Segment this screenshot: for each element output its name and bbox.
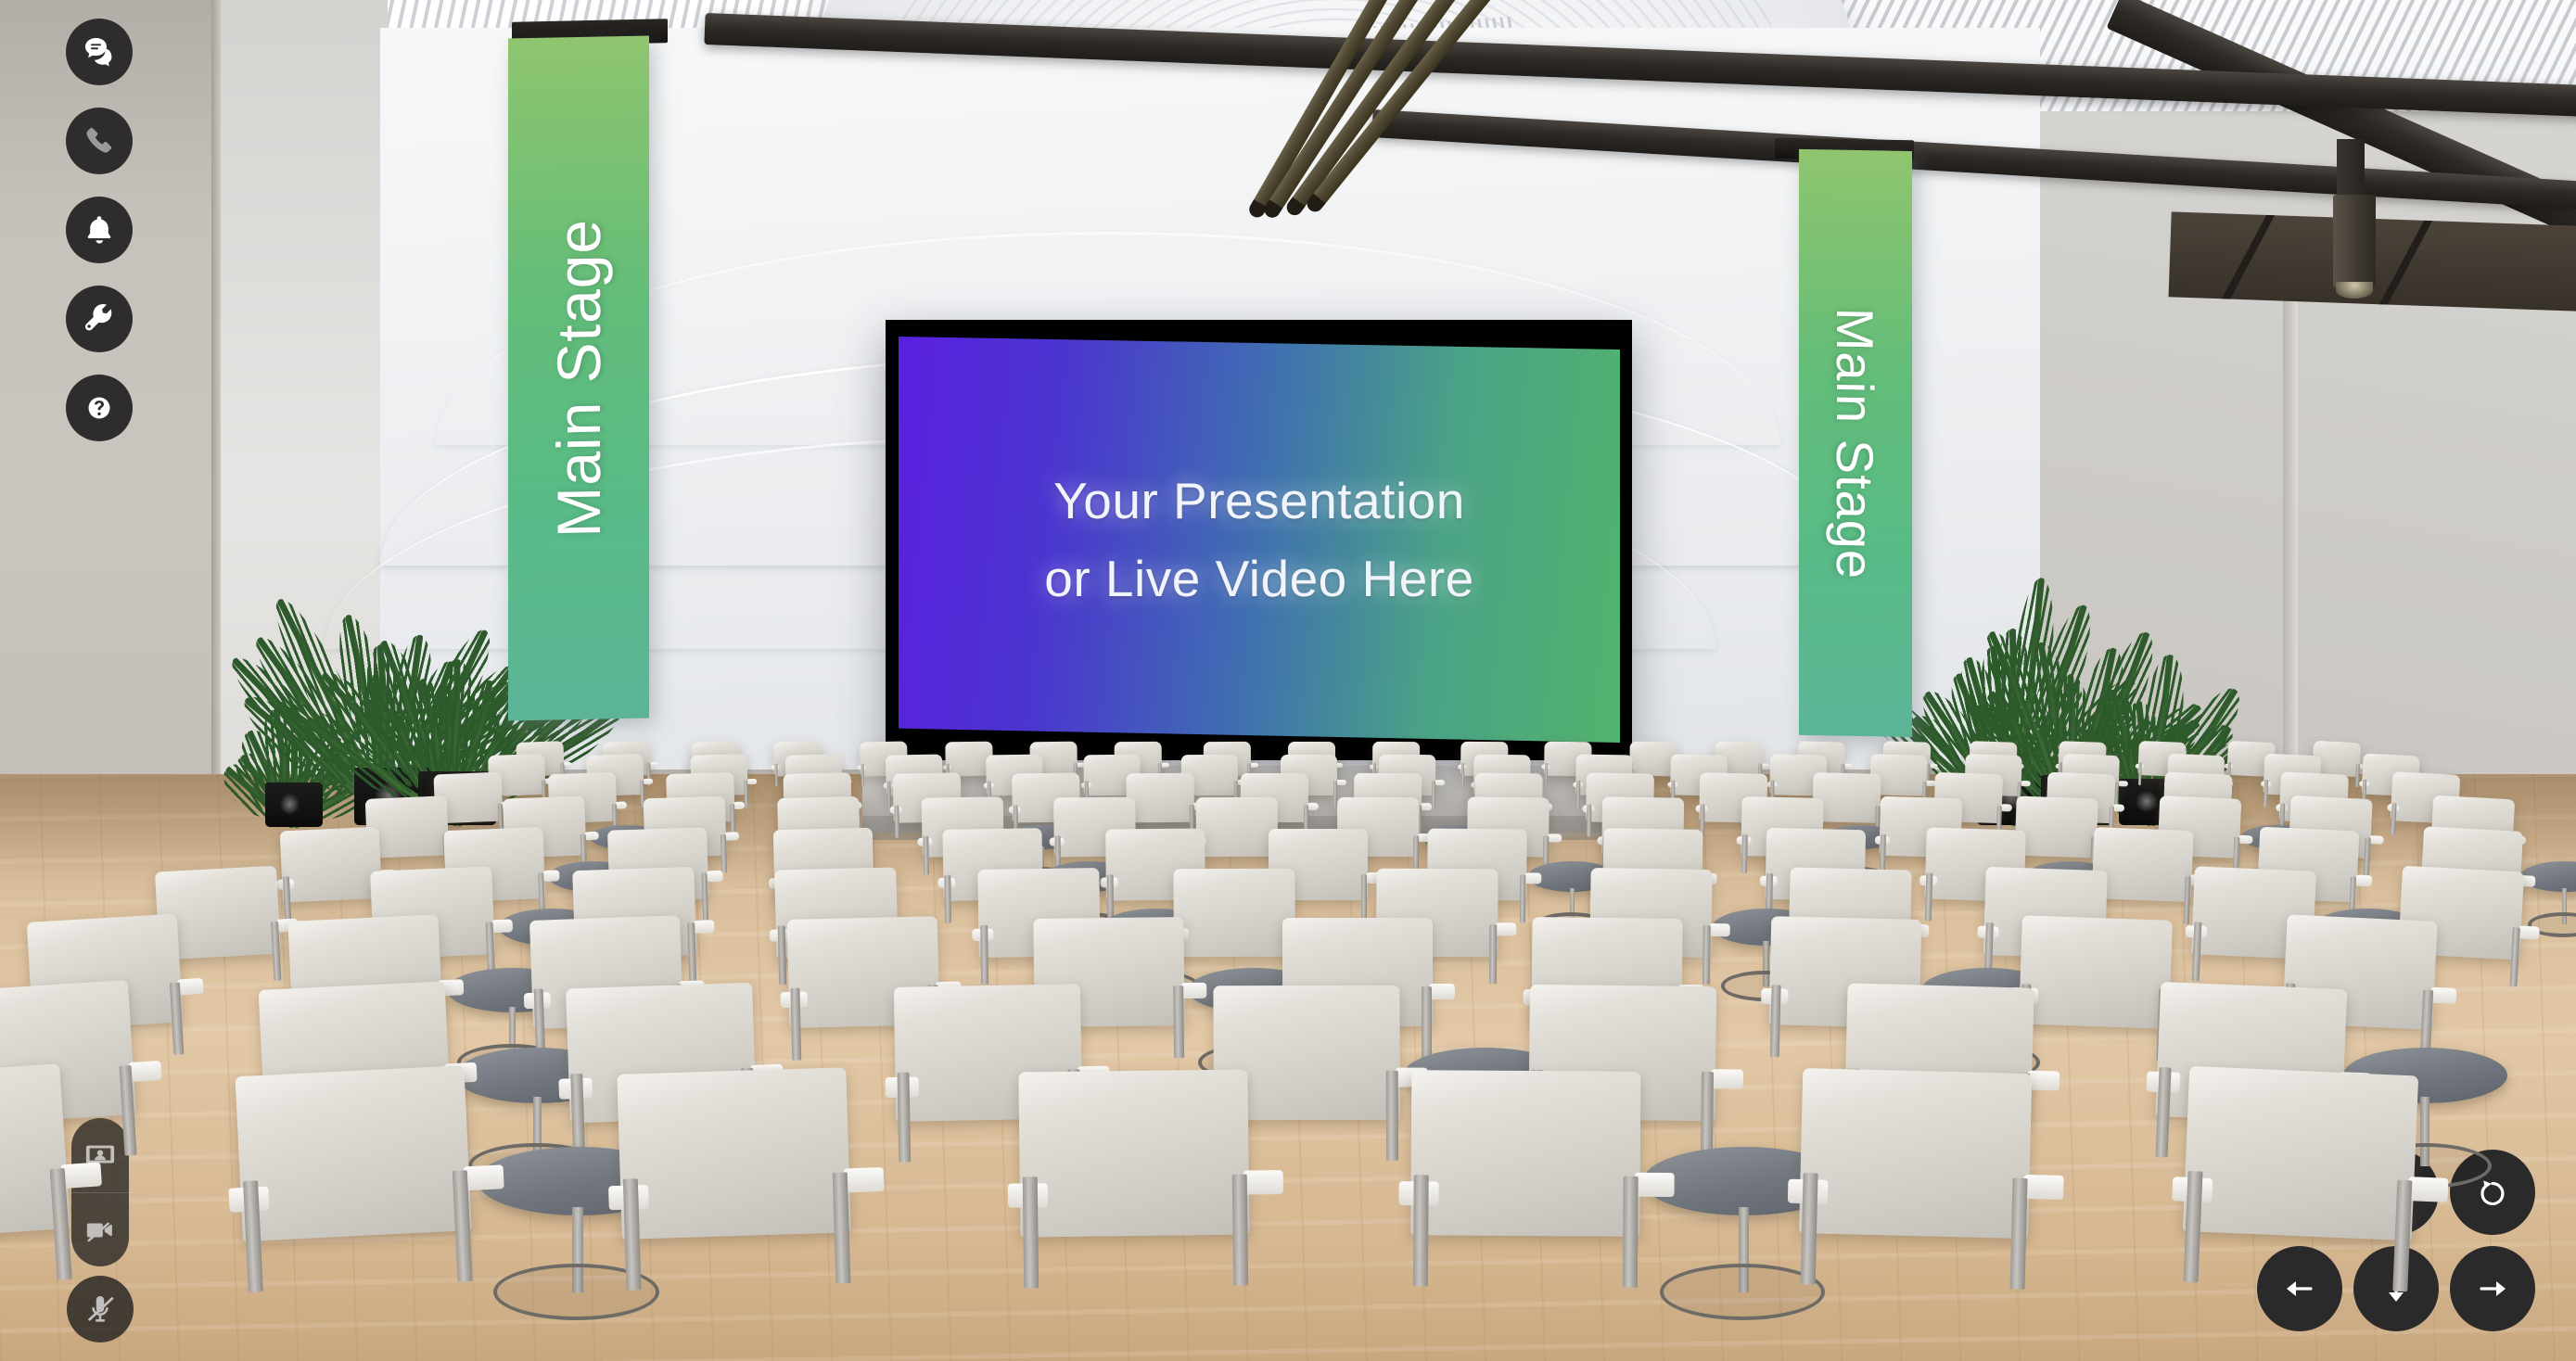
chair-back xyxy=(2018,915,2171,1028)
chair-arm xyxy=(1524,872,1542,883)
chair-arm xyxy=(707,871,724,882)
chair-arm xyxy=(2023,1174,2064,1199)
audience-chair xyxy=(1126,772,1194,833)
chair-leg xyxy=(2184,1171,2203,1282)
audience-chair xyxy=(1196,797,1279,870)
microphone-toggle-button[interactable] xyxy=(67,1276,134,1342)
chair-back xyxy=(280,826,383,902)
chair-arm xyxy=(1495,922,1516,935)
chair-leg xyxy=(2364,836,2371,876)
chair-leg xyxy=(861,764,864,787)
chair-leg xyxy=(1575,781,1579,808)
chair-arm xyxy=(1929,763,1937,769)
chair-leg xyxy=(1623,1176,1639,1287)
chair-arm xyxy=(1428,984,1455,999)
chair-back xyxy=(2183,1065,2418,1240)
chair-leg xyxy=(790,987,801,1061)
chair-leg xyxy=(1432,781,1435,808)
chair-arm xyxy=(2429,986,2456,1003)
chair-arm xyxy=(60,1162,102,1189)
chair-arm xyxy=(1761,763,1769,769)
chair-arm xyxy=(1708,922,1729,935)
chair-arm xyxy=(1249,762,1257,767)
audience-chair xyxy=(1019,1069,1250,1273)
chair-leg xyxy=(945,874,952,922)
side-table xyxy=(2520,861,2576,932)
phone-icon xyxy=(83,124,116,158)
chair-leg xyxy=(1386,1071,1398,1161)
chair-leg xyxy=(730,803,735,836)
audience-chair xyxy=(235,1065,473,1278)
toolbar-button-help[interactable] xyxy=(66,375,133,441)
chair-arm xyxy=(693,919,715,933)
chair-arm xyxy=(1243,1169,1284,1194)
toolbar-button-settings[interactable] xyxy=(66,286,133,352)
chair-arm xyxy=(1435,780,1445,786)
chair-back xyxy=(617,1067,850,1240)
chair-back xyxy=(2014,796,2098,859)
chair-arm xyxy=(563,761,571,767)
toolbar-button-call[interactable] xyxy=(66,108,133,174)
chair-leg xyxy=(898,1073,912,1164)
chair-back xyxy=(1629,742,1677,777)
bell-icon xyxy=(83,213,116,247)
chair-back xyxy=(1019,1069,1250,1237)
chair-back xyxy=(1196,797,1279,857)
toolbar-button-notifications[interactable] xyxy=(66,197,133,263)
chair-arm xyxy=(1547,833,1562,842)
toolbar-button-chat[interactable] xyxy=(66,19,133,85)
chair-arm xyxy=(1180,983,1207,998)
question-mark-icon xyxy=(83,391,116,425)
camera-off-icon xyxy=(84,1215,116,1246)
chair-arm xyxy=(128,1060,162,1081)
chair-leg xyxy=(923,835,928,875)
chair-leg xyxy=(1770,985,1781,1058)
audience-chair xyxy=(2018,915,2172,1052)
chair-arm xyxy=(1634,1172,1675,1196)
chair-arm xyxy=(584,832,599,841)
mic-muted-icon xyxy=(83,1292,117,1326)
audience-chair xyxy=(2181,1065,2418,1277)
chair-arm xyxy=(2112,804,2124,811)
wrench-icon xyxy=(83,302,116,336)
chair-leg xyxy=(777,925,786,985)
chair-leg xyxy=(1232,1174,1248,1285)
camera-toggle-button[interactable] xyxy=(71,1192,129,1266)
chair-arm xyxy=(1161,762,1169,767)
chair-leg xyxy=(1702,924,1710,984)
chair-back xyxy=(1410,1070,1640,1237)
chair-leg xyxy=(1360,874,1367,922)
chair-leg xyxy=(1023,1177,1039,1288)
chair-arm xyxy=(491,919,513,933)
chair-arm xyxy=(724,832,739,841)
chair-leg xyxy=(1741,834,1747,874)
audience-chair xyxy=(2014,796,2098,871)
chair-back xyxy=(1799,1068,2032,1239)
chair-arm xyxy=(843,1166,884,1191)
chair-leg xyxy=(1801,1173,1818,1284)
chair-leg xyxy=(1460,763,1464,786)
move-right-button[interactable] xyxy=(2450,1246,2535,1331)
chair-leg xyxy=(886,782,891,809)
chair-arm xyxy=(2407,1176,2449,1202)
chair-arm xyxy=(2518,925,2540,939)
chair-arm xyxy=(746,779,757,785)
chair-leg xyxy=(1544,763,1548,786)
chair-arm xyxy=(542,870,560,881)
chair-arm xyxy=(1336,780,1346,785)
chair-arm xyxy=(2117,781,2127,787)
chair-arm xyxy=(2238,835,2253,845)
chair-leg xyxy=(2263,780,2267,808)
chair-arm xyxy=(2354,874,2372,885)
audience-chair xyxy=(1174,868,1295,975)
chair-arm xyxy=(2020,781,2030,787)
arrow-left-icon xyxy=(2280,1269,2319,1308)
chair-arm xyxy=(2369,835,2384,845)
chair-leg xyxy=(1489,924,1498,984)
chair-arm xyxy=(615,801,627,808)
chair-leg xyxy=(1173,986,1183,1058)
chair-leg xyxy=(980,924,988,984)
chair-arm xyxy=(1843,763,1852,769)
audience-chair xyxy=(1410,1070,1640,1273)
chair-arm xyxy=(1711,1069,1744,1089)
chair-arm xyxy=(1420,803,1432,810)
chair-arm xyxy=(1307,803,1320,810)
chair-arm xyxy=(177,978,204,996)
audience-chair xyxy=(1798,1068,2032,1275)
chair-leg xyxy=(1519,874,1525,922)
chair-leg xyxy=(1413,1175,1429,1286)
virtual-venue-viewport[interactable]: Main Stage Main Stage Your Presentation … xyxy=(0,0,2576,1361)
audience-chair xyxy=(617,1067,851,1276)
chair-back xyxy=(1174,868,1295,956)
chair-arm xyxy=(463,1164,504,1189)
chair-leg xyxy=(894,805,899,838)
chat-bubbles-icon xyxy=(83,35,116,69)
chair-leg xyxy=(1587,804,1591,837)
chair-arm xyxy=(649,761,657,767)
left-toolbar xyxy=(66,19,133,441)
chair-back xyxy=(1126,772,1193,821)
chair-back xyxy=(235,1065,471,1241)
chair-leg xyxy=(2393,1179,2413,1291)
chair-leg xyxy=(2010,1177,2028,1289)
audience-chair xyxy=(280,826,383,918)
chair-leg xyxy=(2391,802,2397,835)
arrow-right-icon xyxy=(2473,1269,2512,1308)
chair-arm xyxy=(2000,804,2012,811)
chair-leg xyxy=(1879,833,1885,873)
